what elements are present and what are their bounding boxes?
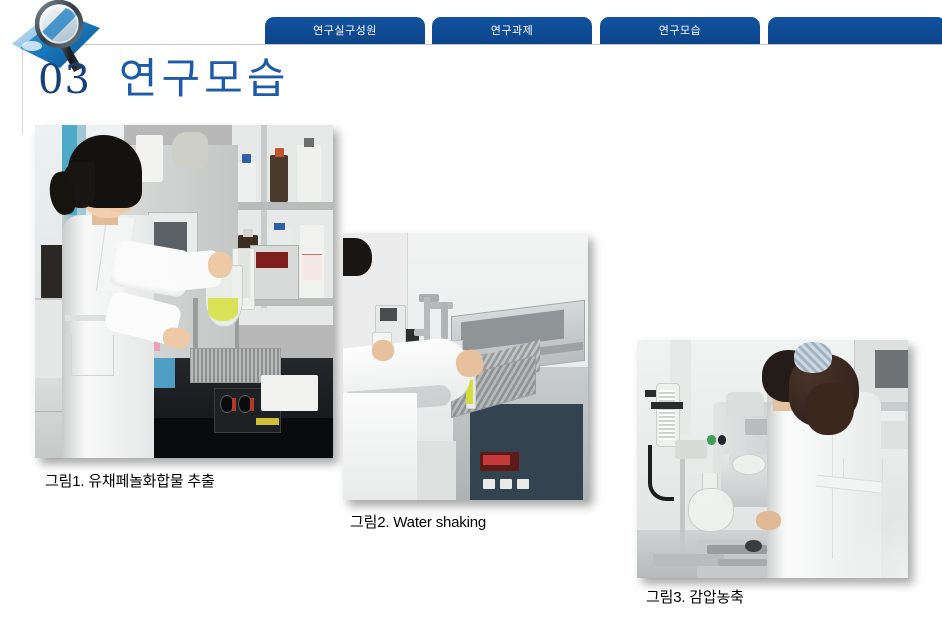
figure-1-scene (35, 125, 333, 458)
figure-3-photo[interactable] (637, 340, 908, 578)
tab-research-activities[interactable]: 연구모습 (600, 17, 760, 44)
slide-canvas: 연구실구성원 연구과제 연구모습 (0, 0, 942, 620)
figure-2-photo[interactable] (343, 233, 588, 500)
figure-2-caption: 그림2. Water shaking (350, 511, 486, 532)
tab-research-projects[interactable]: 연구과제 (432, 17, 592, 44)
figure-3-caption: 그림3. 감압농축 (646, 586, 744, 607)
nav-tabs: 연구실구성원 연구과제 연구모습 (0, 0, 942, 46)
figure-3-scene (637, 340, 908, 578)
figure-1-photo[interactable] (35, 125, 333, 458)
figure-1-caption: 그림1. 유채페놀화합물 추출 (45, 470, 215, 491)
section-title: 연구모습 (119, 58, 290, 100)
section-number: 03 (38, 60, 91, 100)
page-title: 03 연구모습 (38, 58, 289, 114)
figure-2-scene (343, 233, 588, 500)
tab-extra[interactable] (768, 17, 942, 44)
tab-lab-members[interactable]: 연구실구성원 (265, 17, 425, 44)
